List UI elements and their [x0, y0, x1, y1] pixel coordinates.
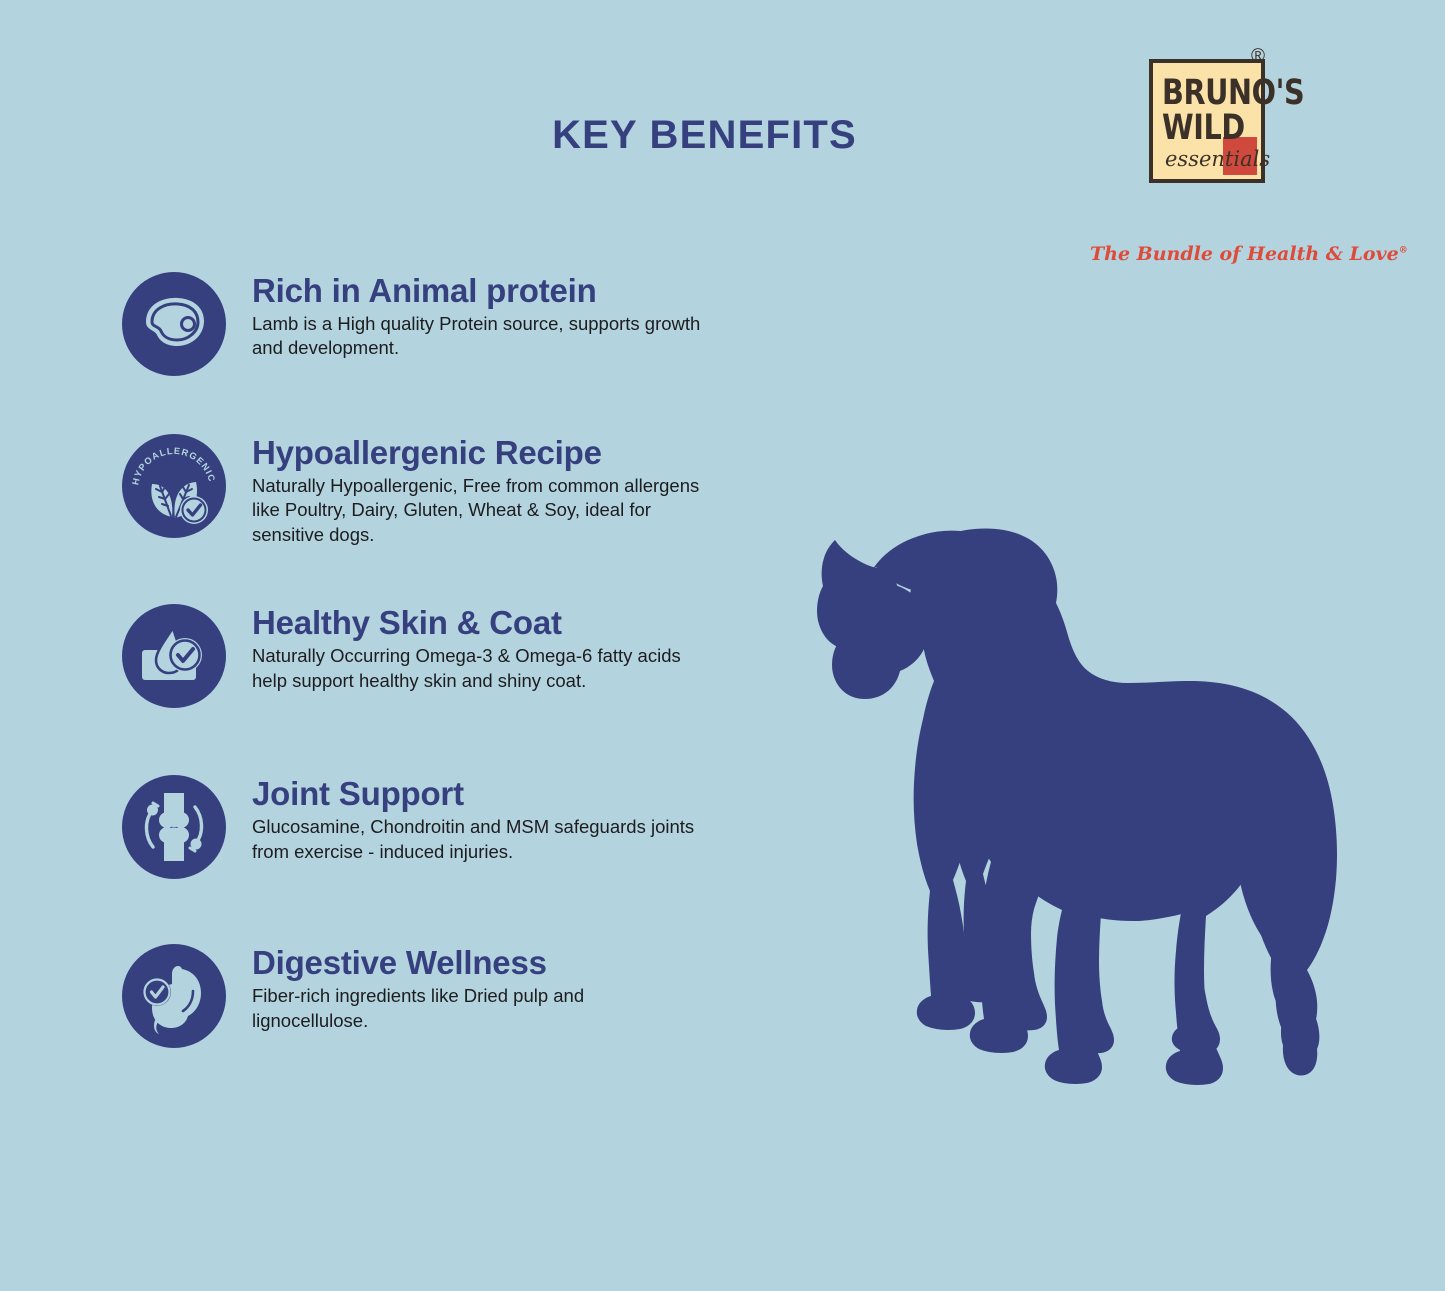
logo-text-brunos: BRUNO'S: [1162, 76, 1304, 111]
benefit-item: HYPOALLERGENIC: [122, 434, 722, 547]
skin-droplet-check-icon: [122, 604, 226, 708]
page-title-text: KEY BENEFITS: [552, 113, 857, 158]
benefits-list: Rich in Animal protein Lamb is a High qu…: [122, 272, 722, 1048]
meat-icon: [122, 272, 226, 376]
benefit-text: Joint Support Glucosamine, Chondroitin a…: [226, 775, 702, 864]
brand-tagline-mark: ®: [1399, 246, 1408, 256]
stomach-check-icon: [122, 944, 226, 1048]
benefit-text: Digestive Wellness Fiber-rich ingredient…: [226, 944, 702, 1033]
logo-text-essentials: essentials: [1165, 149, 1270, 170]
benefit-item: Joint Support Glucosamine, Chondroitin a…: [122, 775, 722, 879]
benefit-text: Healthy Skin & Coat Naturally Occurring …: [226, 604, 702, 693]
brand-tagline-text: The Bundle of Health & Love: [1090, 243, 1399, 265]
benefit-title: Joint Support: [252, 777, 702, 812]
benefit-description: Fiber-rich ingredients like Dried pulp a…: [252, 984, 702, 1033]
benefit-item: Rich in Animal protein Lamb is a High qu…: [122, 272, 722, 376]
logo-text-wild: WILD: [1162, 111, 1245, 146]
benefit-title: Digestive Wellness: [252, 946, 702, 981]
benefit-description: Naturally Hypoallergenic, Free from comm…: [252, 474, 702, 547]
brand-logo: ® BRUNO'S WILD essentials The Bundle of …: [1090, 47, 1340, 232]
hypoallergenic-leaf-icon: HYPOALLERGENIC: [122, 434, 226, 538]
brand-tagline: The Bundle of Health & Love®: [1090, 243, 1340, 265]
benefit-description: Naturally Occurring Omega-3 & Omega-6 fa…: [252, 644, 702, 693]
logo-box: BRUNO'S WILD essentials: [1149, 59, 1265, 183]
benefit-text: Rich in Animal protein Lamb is a High qu…: [226, 272, 702, 361]
benefit-title: Rich in Animal protein: [252, 274, 702, 309]
benefit-title: Hypoallergenic Recipe: [252, 436, 702, 471]
benefit-title: Healthy Skin & Coat: [252, 606, 702, 641]
svg-text:HYPOALLERGENIC: HYPOALLERGENIC: [130, 446, 217, 486]
benefit-item: Digestive Wellness Fiber-rich ingredient…: [122, 944, 722, 1048]
benefit-description: Lamb is a High quality Protein source, s…: [252, 312, 702, 361]
benefit-item: Healthy Skin & Coat Naturally Occurring …: [122, 604, 722, 708]
joint-bone-icon: [122, 775, 226, 879]
benefit-description: Glucosamine, Chondroitin and MSM safegua…: [252, 815, 702, 864]
benefit-text: Hypoallergenic Recipe Naturally Hypoalle…: [226, 434, 702, 547]
dog-silhouette: [770, 505, 1390, 1085]
